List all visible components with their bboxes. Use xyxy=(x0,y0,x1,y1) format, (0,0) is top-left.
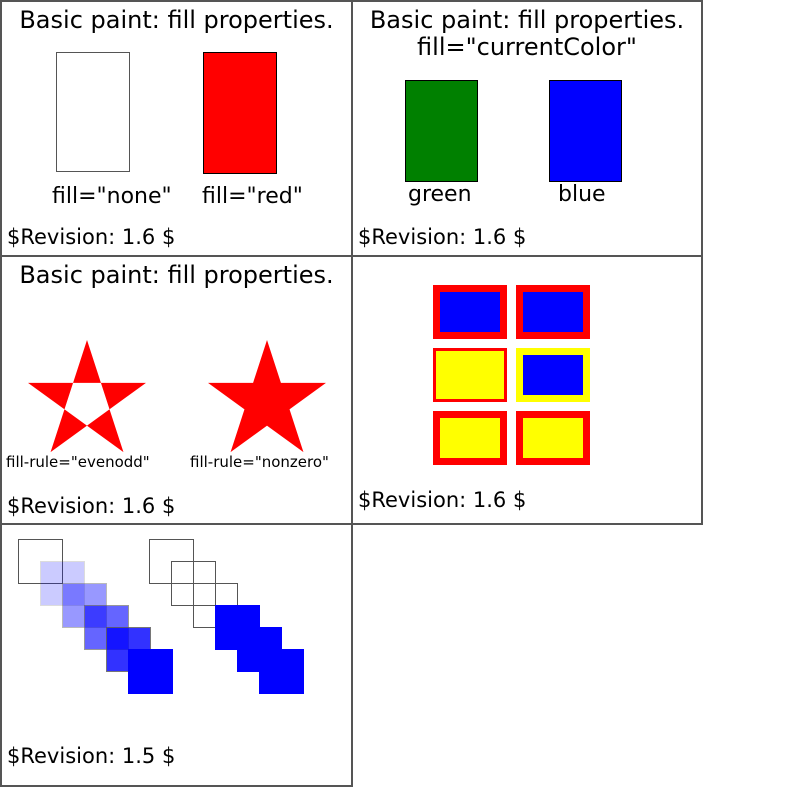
rect-current-color-green xyxy=(405,80,478,182)
label-green: green xyxy=(408,182,472,208)
panel-title: Basic paint: fill properties. xyxy=(353,5,701,35)
panel-painting-fill-02[interactable]: Basic paint: fill properties. fill="curr… xyxy=(351,0,703,257)
label-fill-red: fill="red" xyxy=(202,184,303,210)
label-fill-none: fill="none" xyxy=(52,184,172,210)
cell-r1c1 xyxy=(433,285,507,339)
square-opacity-1 xyxy=(128,649,173,694)
panel-painting-fill-04[interactable]: $Revision: 1.6 $ xyxy=(351,255,703,525)
cell-r1c2 xyxy=(516,285,590,339)
star-evenodd-icon xyxy=(28,340,146,452)
revision-label: $Revision: 1.5 $ xyxy=(7,743,175,769)
rect-fill-red xyxy=(203,52,277,174)
panel-painting-fill-01[interactable]: Basic paint: fill properties. fill="none… xyxy=(0,0,353,257)
thumbnail-sheet: Basic paint: fill properties. fill="none… xyxy=(0,0,800,800)
cell-r3c2 xyxy=(516,411,590,465)
revision-label: $Revision: 1.6 $ xyxy=(358,487,526,513)
label-fill-rule-evenodd: fill-rule="evenodd" xyxy=(6,452,150,472)
cell-r3c1 xyxy=(433,411,507,465)
panel-title: Basic paint: fill properties. xyxy=(2,5,351,35)
revision-label: $Revision: 1.6 $ xyxy=(7,224,175,250)
revision-label: $Revision: 1.6 $ xyxy=(358,224,526,250)
panel-painting-fill-05[interactable]: $Revision: 1.5 $ xyxy=(0,523,353,787)
label-blue: blue xyxy=(558,182,606,208)
panel-painting-fill-03[interactable]: Basic paint: fill properties. fill-rule=… xyxy=(0,255,353,525)
cell-r2c2 xyxy=(516,348,590,402)
cell-r2c1 xyxy=(433,348,507,402)
revision-label: $Revision: 1.6 $ xyxy=(7,493,175,519)
panel-subtitle: fill="currentColor" xyxy=(353,32,701,62)
panel-title: Basic paint: fill properties. xyxy=(2,260,351,290)
label-fill-rule-nonzero: fill-rule="nonzero" xyxy=(190,452,329,472)
rect-current-color-blue xyxy=(549,80,622,182)
rect-fill-none xyxy=(56,52,130,172)
square-clamped-1c xyxy=(259,649,304,694)
star-nonzero-icon xyxy=(208,340,326,452)
